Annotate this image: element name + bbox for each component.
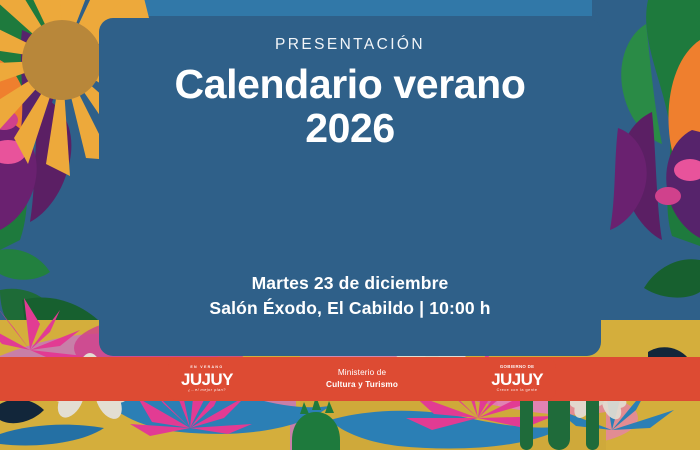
ministry-logo: Ministerio de Cultura y Turismo (326, 367, 398, 390)
event-details: Martes 23 de diciembre Salón Éxodo, El C… (99, 271, 601, 321)
gobierno-jujuy-logo-word: JUJUY (491, 371, 543, 388)
poster-canvas: PRESENTACIÓN Calendario verano 2026 Mart… (0, 0, 700, 450)
jujuy-verano-logo-tagline: ¿…el mejor plan? (181, 389, 233, 393)
gobierno-jujuy-logo: Gobierno de JUJUY Crece con la gente (491, 365, 543, 393)
eyebrow-label: PRESENTACIÓN (99, 36, 601, 54)
jujuy-verano-logo: EN VERANO JUJUY ¿…el mejor plan? (181, 366, 233, 393)
ministry-line-1: Ministerio de (326, 367, 398, 379)
ministry-line-2: Cultura y Turismo (326, 379, 398, 391)
gobierno-jujuy-logo-tagline: Crece con la gente (491, 389, 543, 393)
page-title: Calendario verano 2026 (99, 63, 601, 151)
headline-block: PRESENTACIÓN Calendario verano 2026 (99, 18, 601, 151)
logo-bar: EN VERANO JUJUY ¿…el mejor plan? Ministe… (168, 357, 556, 401)
jujuy-verano-logo-top: EN VERANO (181, 366, 233, 370)
event-date: Martes 23 de diciembre (99, 271, 601, 296)
gobierno-jujuy-logo-top: Gobierno de (491, 365, 543, 369)
headline-line-2: 2026 (99, 107, 601, 151)
event-venue: Salón Éxodo, El Cabildo | 10:00 h (99, 296, 601, 321)
jujuy-verano-logo-word: JUJUY (181, 371, 233, 388)
headline-line-1: Calendario verano (175, 61, 526, 107)
